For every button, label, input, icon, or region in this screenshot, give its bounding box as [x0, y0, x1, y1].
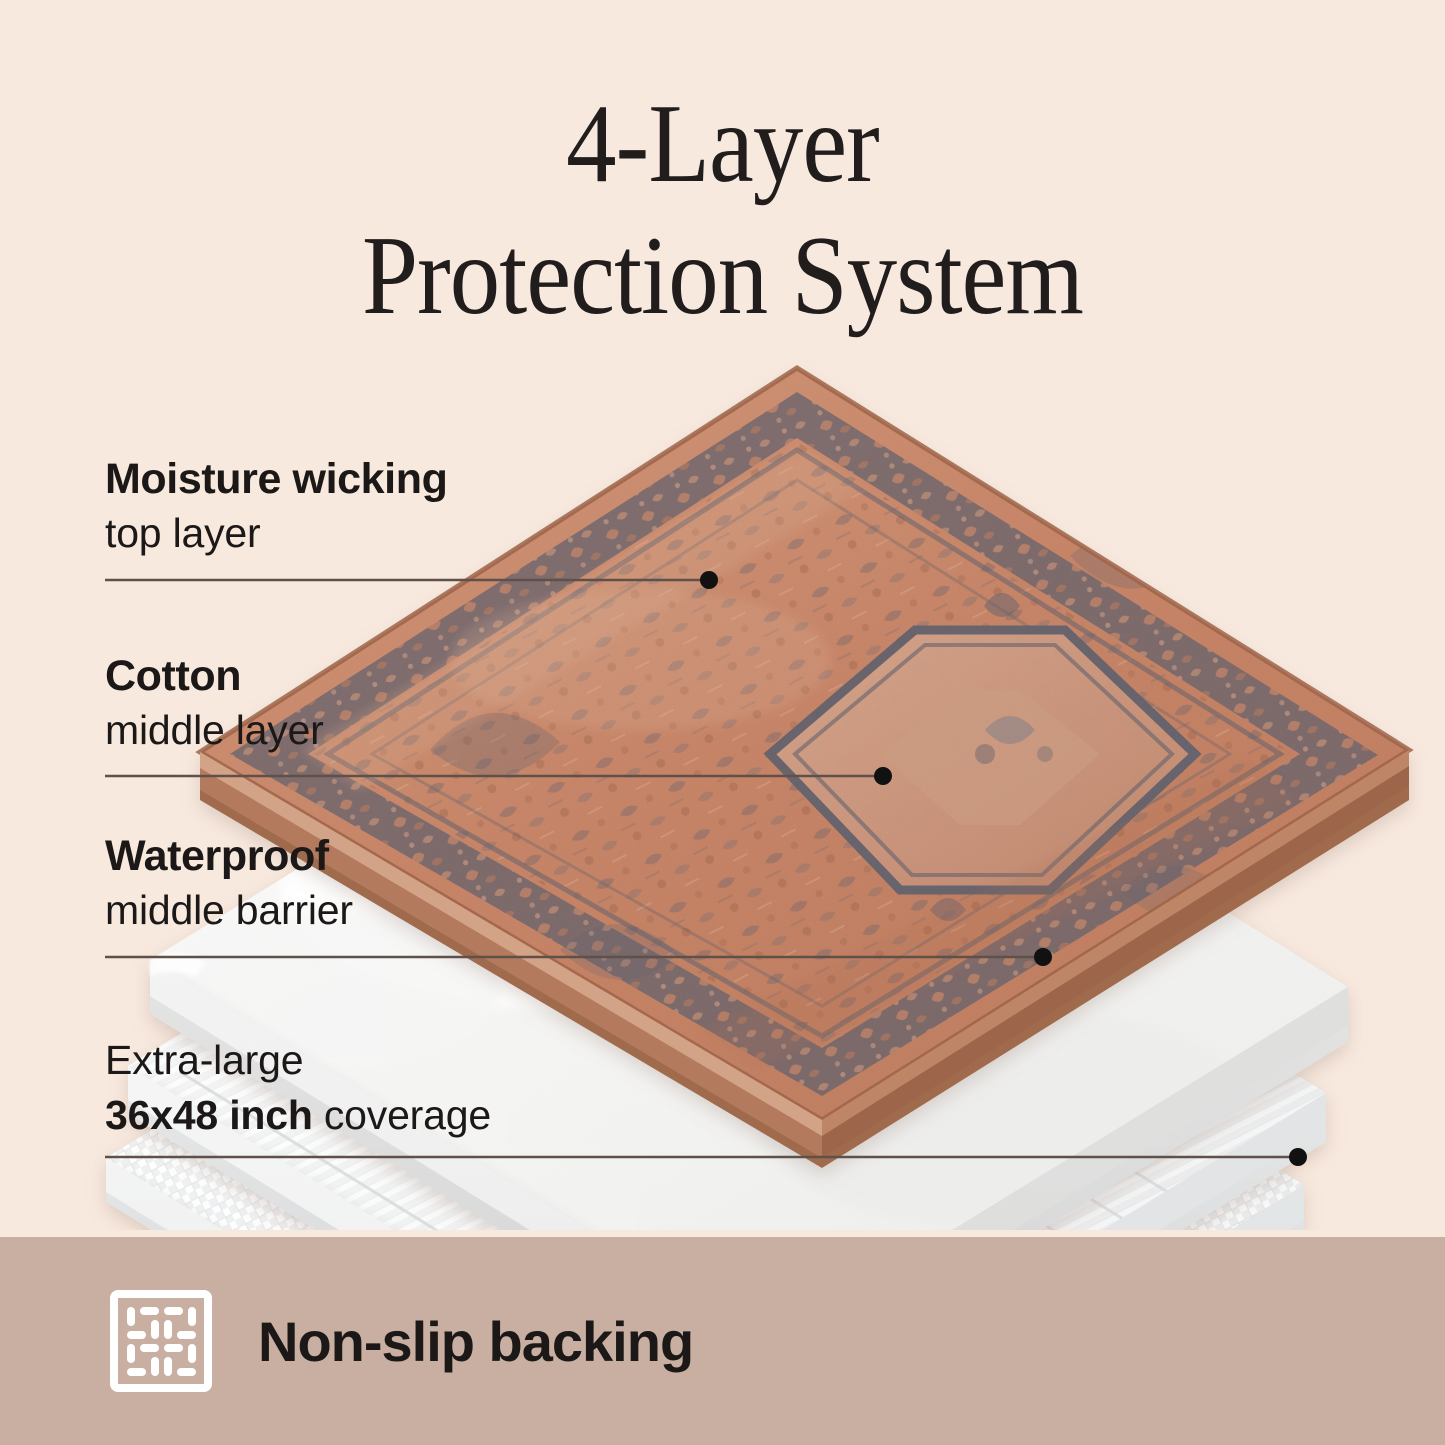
callout-cotton: Cotton middle layer: [105, 652, 324, 755]
callout-moisture-wicking: Moisture wicking top layer: [105, 455, 447, 558]
title-line-2: Protection System: [72, 210, 1373, 342]
callout-waterproof: Waterproof middle barrier: [105, 832, 353, 935]
callout-2-subtitle: middle layer: [105, 706, 324, 755]
callout-coverage-size: Extra-large 36x48 inch coverage: [105, 1030, 491, 1140]
non-slip-banner: Non-slip backing: [0, 1237, 1445, 1445]
title-line-1: 4-Layer: [72, 78, 1373, 210]
coverage-size-suffix: coverage: [313, 1092, 491, 1138]
callout-2-title: Cotton: [105, 652, 324, 700]
infographic-root: 4-Layer Protection System: [0, 0, 1445, 1445]
callout-4-line-1: Extra-large: [105, 1036, 491, 1085]
woven-non-slip-texture-icon: [110, 1290, 212, 1392]
callout-3-title: Waterproof: [105, 832, 353, 880]
callout-1-subtitle: top layer: [105, 509, 447, 558]
coverage-size-value: 36x48 inch: [105, 1092, 313, 1138]
page-title: 4-Layer Protection System: [72, 78, 1373, 342]
callout-4-line-2: 36x48 inch coverage: [105, 1091, 491, 1140]
callout-1-title: Moisture wicking: [105, 455, 447, 503]
callout-3-subtitle: middle barrier: [105, 886, 353, 935]
non-slip-banner-label: Non-slip backing: [258, 1309, 693, 1374]
